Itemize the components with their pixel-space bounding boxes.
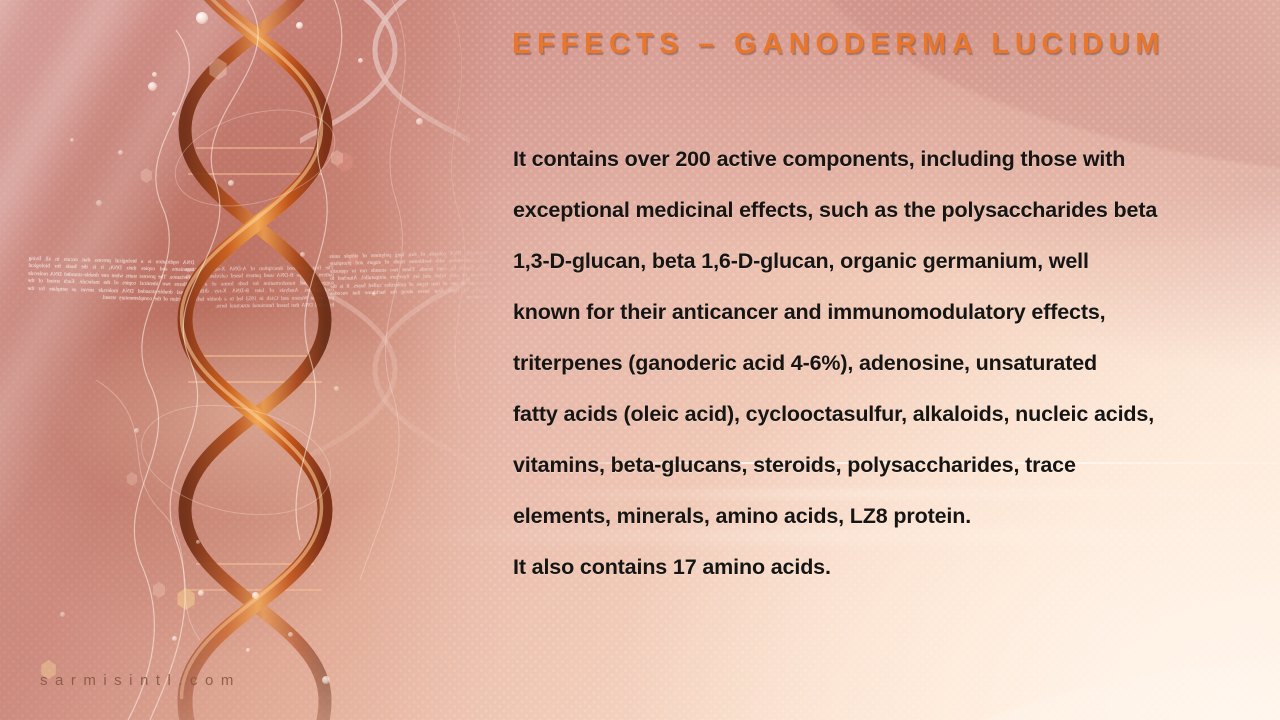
bokeh-particle	[334, 386, 339, 391]
bokeh-particle	[172, 112, 176, 116]
body-paragraph: It contains over 200 active components, …	[513, 134, 1265, 593]
site-watermark: sarmisintl.com	[40, 672, 241, 689]
body-line: known for their anticancer and immunomod…	[513, 287, 1265, 338]
bokeh-particle	[252, 592, 259, 599]
bokeh-particle	[358, 58, 363, 63]
body-line: fatty acids (oleic acid), cyclooctasulfu…	[513, 389, 1265, 440]
body-line: 1,3-D-glucan, beta 1,6-D-glucan, organic…	[513, 236, 1265, 287]
page-title: EFFECTS – GANODERMA LUCIDUM	[512, 28, 1249, 61]
bokeh-particle	[416, 118, 423, 125]
body-line: triterpenes (ganoderic acid 4-6%), adeno…	[513, 338, 1265, 389]
bokeh-particle	[152, 72, 157, 77]
body-line: It also contains 17 amino acids.	[513, 542, 1265, 593]
bokeh-particle	[134, 428, 139, 433]
bokeh-particle	[70, 138, 74, 142]
bokeh-particle	[196, 540, 200, 544]
bokeh-particle	[198, 590, 204, 596]
bokeh-particle	[118, 150, 123, 155]
bokeh-particle	[148, 82, 157, 91]
bokeh-particle	[60, 612, 65, 617]
dna-artwork-panel: DNA replication is a biological process …	[0, 0, 500, 720]
bokeh-particle	[372, 292, 376, 296]
bokeh-particle	[288, 632, 293, 637]
flowing-curve-lines	[0, 0, 500, 720]
body-line: vitamins, beta-glucans, steroids, polysa…	[513, 440, 1265, 491]
body-line: elements, minerals, amino acids, LZ8 pro…	[513, 491, 1265, 542]
bokeh-particle	[322, 676, 330, 684]
bokeh-particle	[296, 22, 303, 29]
bokeh-particle	[196, 12, 208, 24]
bokeh-particle	[246, 648, 250, 652]
body-line: exceptional medicinal effects, such as t…	[513, 185, 1265, 236]
bokeh-particle	[300, 252, 305, 257]
bokeh-particle	[96, 200, 102, 206]
slide-root: DNA replication is a biological process …	[0, 0, 1280, 720]
bokeh-particle	[228, 180, 234, 186]
bokeh-particle	[172, 636, 177, 641]
body-line: It contains over 200 active components, …	[513, 134, 1265, 185]
